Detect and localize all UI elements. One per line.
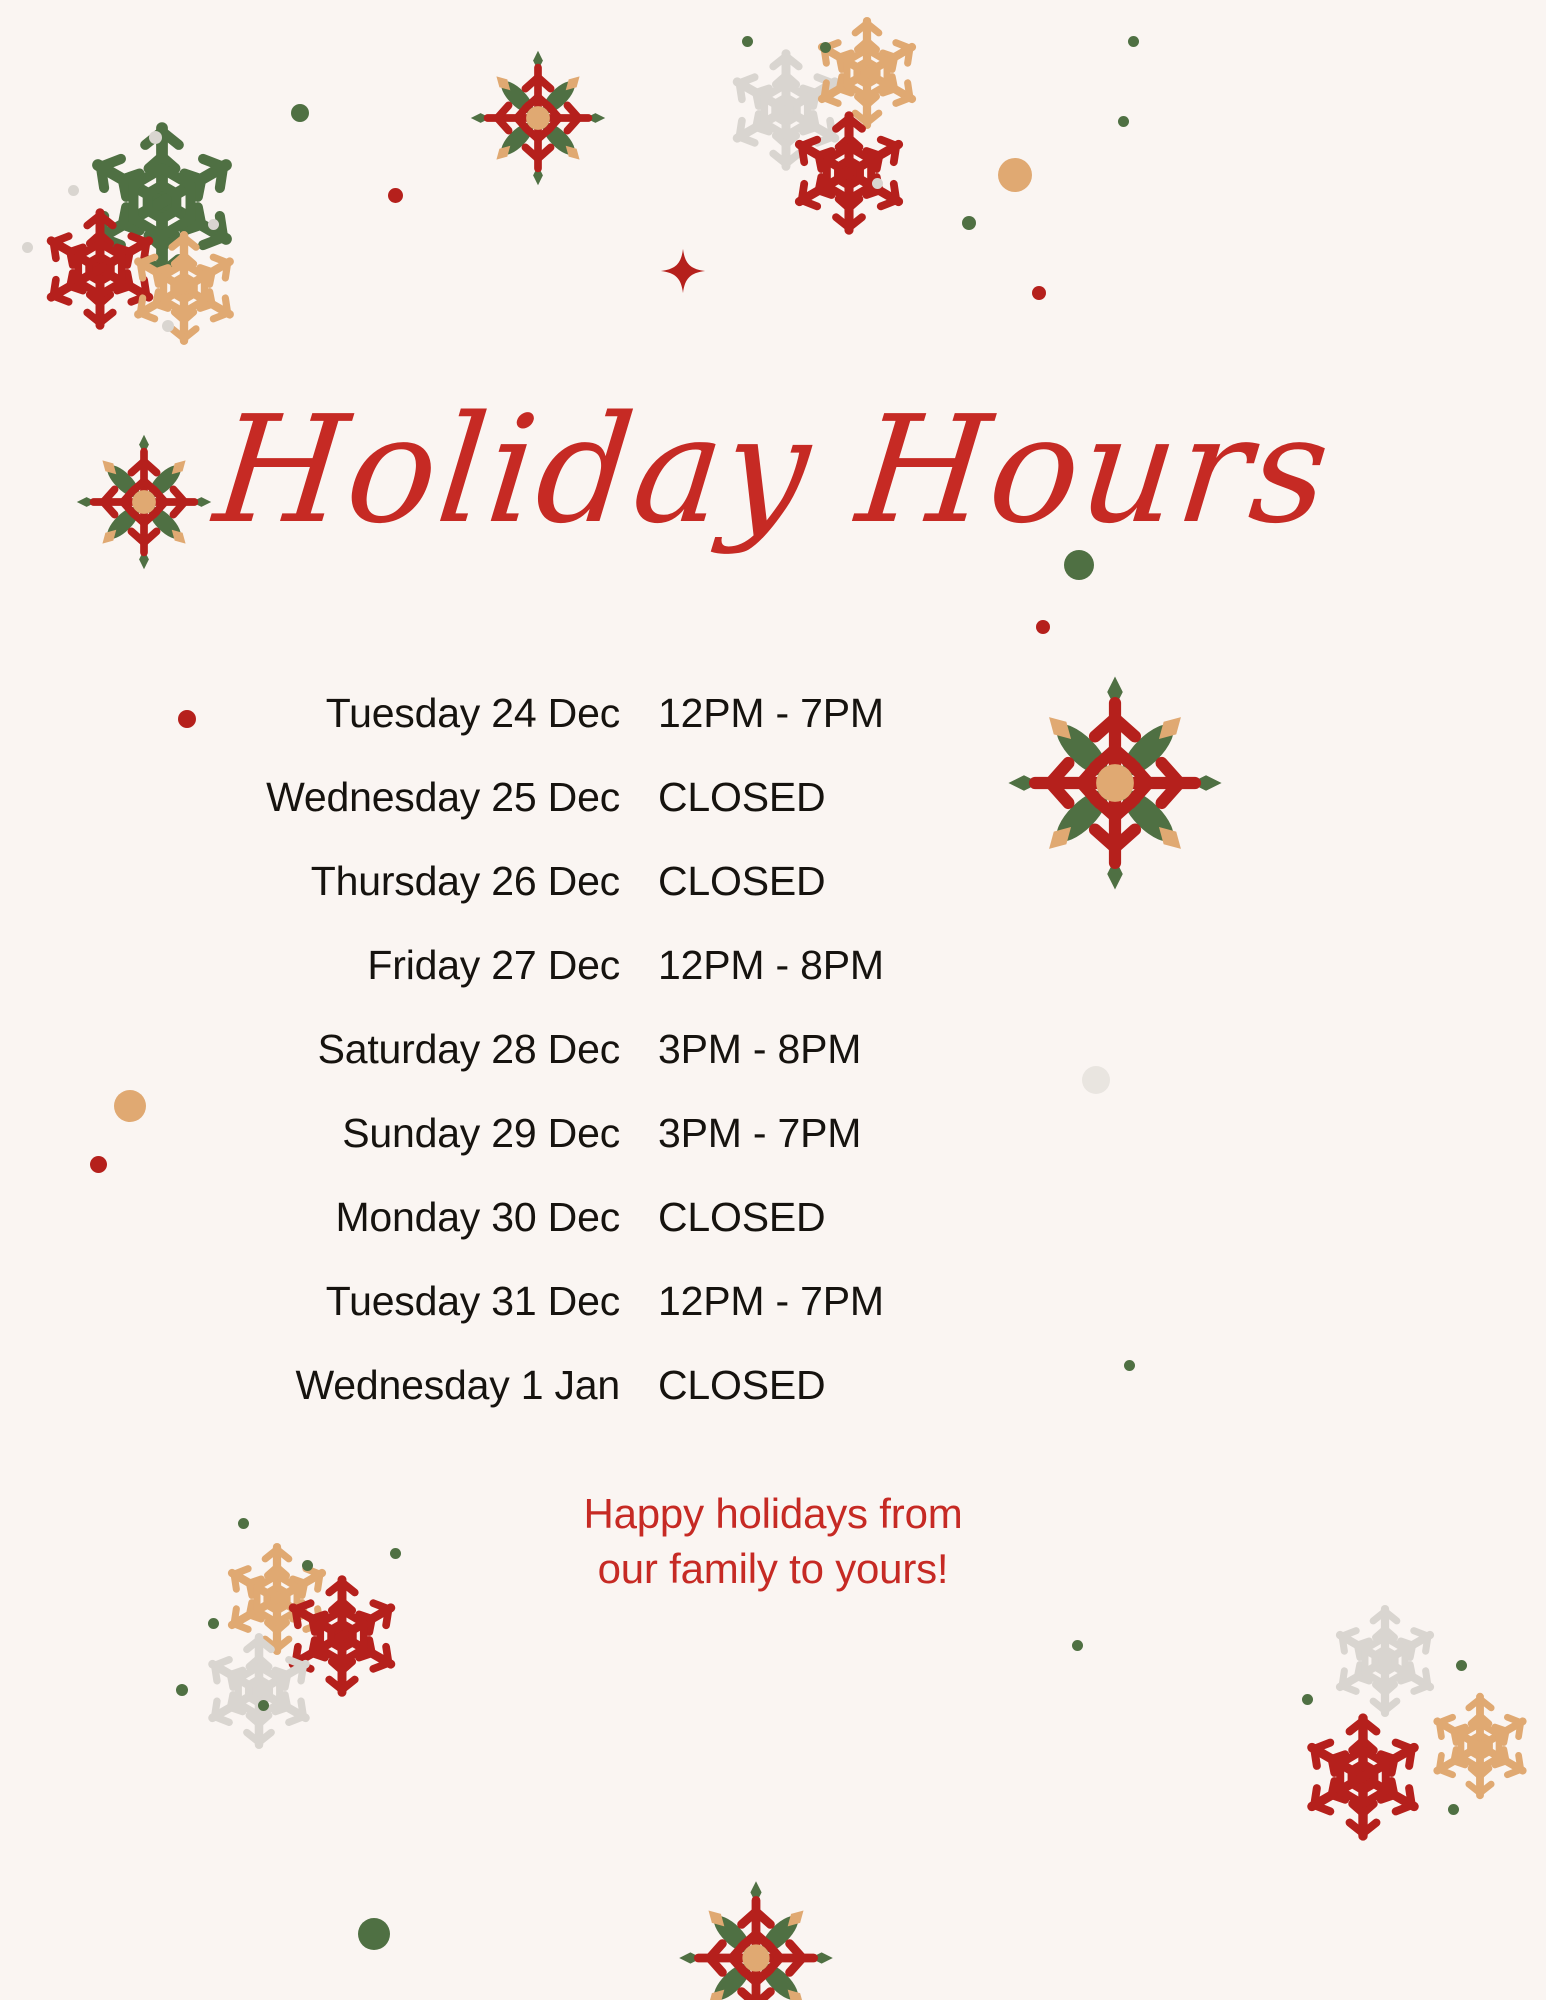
table-row: Monday 30 Dec CLOSED — [0, 1194, 1546, 1278]
hours-value: 12PM - 7PM — [658, 1278, 1078, 1325]
snowflake-detailed-icon — [36, 205, 164, 333]
hours-value: 12PM - 7PM — [658, 690, 1078, 737]
snowflake-detailed-icon — [1296, 1710, 1430, 1844]
dot-icon — [208, 1618, 219, 1629]
dot-icon — [1072, 1640, 1083, 1651]
day-label: Saturday 28 Dec — [0, 1026, 620, 1073]
day-label: Friday 27 Dec — [0, 942, 620, 989]
snowflake-detailed-icon — [78, 118, 246, 286]
snowflake-detailed-icon — [722, 46, 850, 174]
hours-value: 12PM - 8PM — [658, 942, 1078, 989]
dot-icon — [176, 1684, 188, 1696]
snowflake-detailed-icon — [198, 1630, 320, 1752]
dot-icon — [22, 242, 33, 253]
page-title-block: Holiday Hours — [0, 396, 1546, 544]
day-label: Tuesday 31 Dec — [0, 1278, 620, 1325]
snowflake-detailed-icon — [1326, 1602, 1444, 1720]
dot-icon — [820, 42, 831, 53]
day-label: Tuesday 24 Dec — [0, 690, 620, 737]
footer-line-2: our family to yours! — [0, 1542, 1546, 1597]
hours-value: CLOSED — [658, 1362, 1078, 1409]
dot-icon — [872, 178, 883, 189]
dot-icon — [1036, 620, 1050, 634]
snowflake-detailed-icon — [1424, 1690, 1536, 1802]
table-row: Tuesday 24 Dec 12PM - 7PM — [0, 690, 1546, 774]
day-label: Wednesday 25 Dec — [0, 774, 620, 821]
holiday-hours-poster: Holiday Hours Tuesday 24 Dec 12PM - 7PM … — [0, 0, 1546, 2000]
dot-icon — [68, 185, 79, 196]
table-row: Tuesday 31 Dec 12PM - 7PM — [0, 1278, 1546, 1362]
dot-icon — [742, 36, 753, 47]
table-row: Friday 27 Dec 12PM - 8PM — [0, 942, 1546, 1026]
table-row: Saturday 28 Dec 3PM - 8PM — [0, 1026, 1546, 1110]
dot-icon — [1128, 36, 1139, 47]
snowflake-star-icon — [676, 1878, 836, 2000]
snowflake-detailed-icon — [124, 228, 244, 348]
hours-table: Tuesday 24 Dec 12PM - 7PM Wednesday 25 D… — [0, 690, 1546, 1446]
hours-value: 3PM - 8PM — [658, 1026, 1078, 1073]
footer-line-1: Happy holidays from — [0, 1487, 1546, 1542]
dot-icon — [388, 188, 403, 203]
dot-icon — [358, 1918, 390, 1950]
dot-icon — [1032, 286, 1046, 300]
table-row: Wednesday 25 Dec CLOSED — [0, 774, 1546, 858]
dot-icon — [258, 1700, 269, 1711]
snowflake-detailed-icon — [784, 108, 914, 238]
page-title: Holiday Hours — [209, 396, 1337, 544]
snowflake-star-icon — [468, 48, 608, 188]
snowflake-detailed-icon — [808, 14, 926, 132]
dot-icon — [998, 158, 1032, 192]
hours-value: CLOSED — [658, 1194, 1078, 1241]
day-label: Wednesday 1 Jan — [0, 1362, 620, 1409]
dot-icon — [208, 219, 219, 230]
dot-icon — [149, 131, 162, 144]
hours-value: CLOSED — [658, 858, 1078, 905]
dot-icon — [1456, 1660, 1467, 1671]
hours-value: CLOSED — [658, 774, 1078, 821]
day-label: Thursday 26 Dec — [0, 858, 620, 905]
sparkle-icon — [660, 248, 706, 294]
dot-icon — [1118, 116, 1129, 127]
table-row: Wednesday 1 Jan CLOSED — [0, 1362, 1546, 1446]
dot-icon — [162, 320, 174, 332]
day-label: Monday 30 Dec — [0, 1194, 620, 1241]
hours-value: 3PM - 7PM — [658, 1110, 1078, 1157]
day-label: Sunday 29 Dec — [0, 1110, 620, 1157]
table-row: Thursday 26 Dec CLOSED — [0, 858, 1546, 942]
dot-icon — [962, 216, 976, 230]
dot-icon — [1448, 1804, 1459, 1815]
table-row: Sunday 29 Dec 3PM - 7PM — [0, 1110, 1546, 1194]
footer-message: Happy holidays from our family to yours! — [0, 1487, 1546, 1596]
dot-icon — [1302, 1694, 1313, 1705]
dot-icon — [291, 104, 309, 122]
